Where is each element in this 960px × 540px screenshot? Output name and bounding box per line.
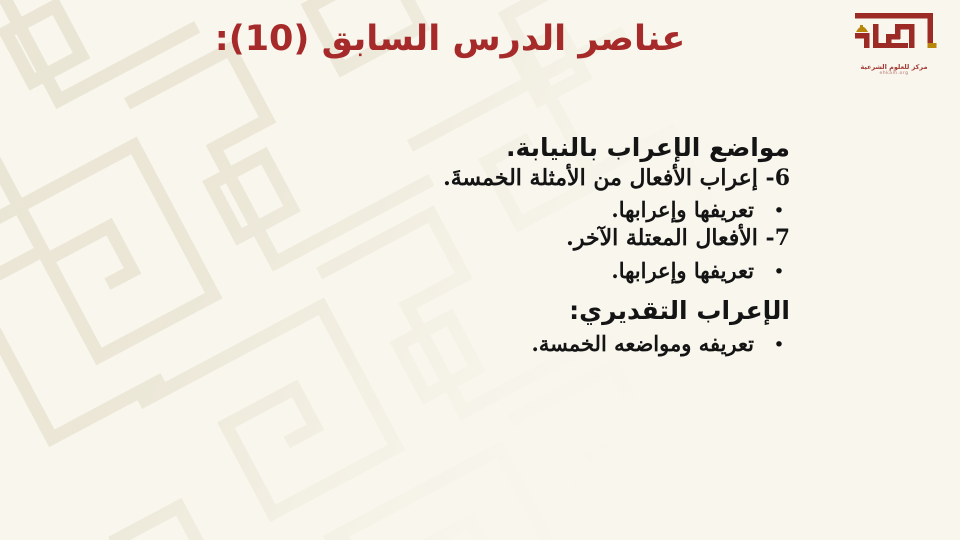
bullet-icon: • [768, 202, 790, 221]
list-item-label: تعريفها وإعرابها. [611, 258, 768, 284]
list-item: • تعريفه ومواضعه الخمسة. [160, 331, 800, 357]
outline-block: مواضع الإعراب بالنيابة. 6- إعراب الأفعال… [160, 133, 800, 284]
list-item: • تعريفها وإعرابها. [160, 197, 800, 223]
page-title: عناصر الدرس السابق (10): [0, 19, 960, 59]
section-heading: مواضع الإعراب بالنيابة. [160, 133, 800, 163]
list-item: 6- إعراب الأفعال من الأمثلة الخمسةَ. [160, 165, 800, 193]
list-item: • تعريفها وإعرابها. [160, 258, 800, 284]
lesson-outline: مواضع الإعراب بالنيابة. 6- إعراب الأفعال… [160, 133, 800, 357]
bullet-icon: • [768, 336, 790, 355]
logo-tagline: مركز للعلوم الشرعية [846, 63, 942, 71]
list-item-label: تعريفها وإعرابها. [611, 197, 768, 223]
list-item-label: تعريفه ومواضعه الخمسة. [532, 331, 768, 357]
slide-canvas: مركز للعلوم الشرعية ehkam.org عناصر الدر… [0, 0, 960, 540]
outline-block: الإعراب التقديري: • تعريفه ومواضعه الخمس… [160, 296, 800, 357]
list-item: 7- الأفعال المعتلة الآخر. [160, 225, 800, 253]
logo-url: ehkam.org [846, 71, 942, 77]
page-title-text: عناصر الدرس السابق (10): [215, 19, 686, 59]
bullet-icon: • [768, 263, 790, 282]
section-heading: الإعراب التقديري: [160, 296, 800, 326]
